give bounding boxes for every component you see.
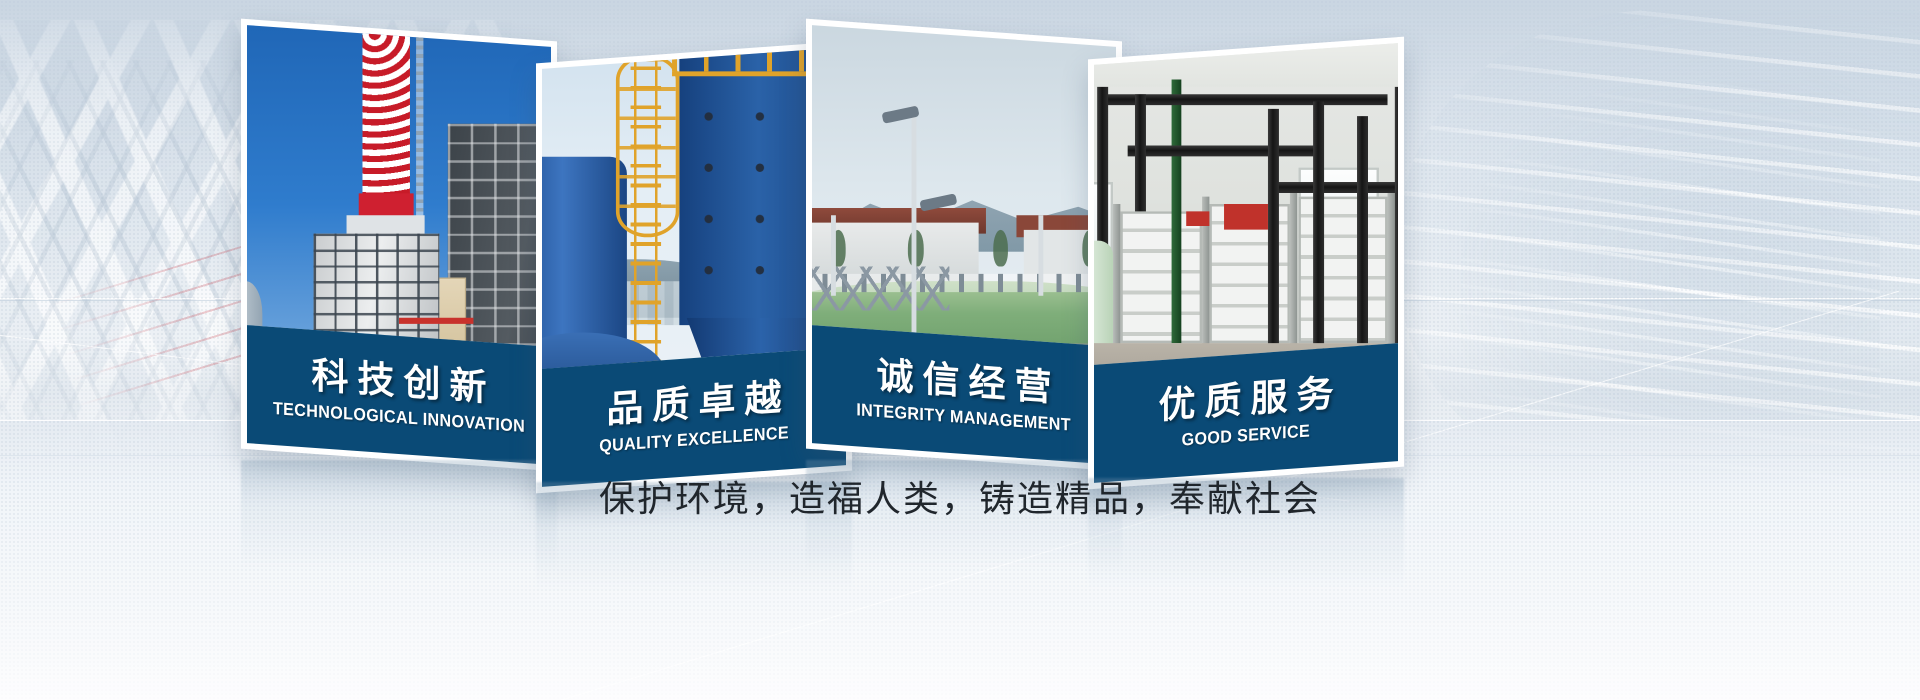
photo-ceiling [1094,43,1398,87]
photo-vertical-pipe [1313,102,1324,358]
panel-title-cn: 优质服务 [1150,373,1343,427]
photo-vertical-pipe [1357,116,1368,350]
feature-panel-quality-excellence[interactable]: 品质卓越 QUALITY EXCELLENCE [536,52,852,612]
panel-card: 诚信经营 INTEGRITY MANAGEMENT [806,19,1122,472]
panel-photo-scene [247,25,551,347]
photo-ro-module [1298,197,1387,343]
panel-title-cn: 品质卓越 [598,377,791,431]
panel-photo [247,25,551,347]
photo-frame-post [1387,189,1394,365]
photo-mast [416,25,423,237]
panel-title-cn: 科技创新 [303,355,496,409]
photo-lamp-post [912,105,917,346]
panel-caption-banner: 诚信经营 INTEGRITY MANAGEMENT [812,325,1116,465]
photo-warning-sign [1224,204,1268,230]
photo-vertical-pipe [1268,109,1279,351]
panel-photo [1094,43,1398,365]
photo-overhead-pipe [1105,94,1387,105]
panel-photo-scene [542,47,846,369]
panel-title-en: GOOD SERVICE [1182,420,1310,450]
photo-green-pipe [1172,80,1182,344]
photo-ro-module [1120,211,1202,343]
photo-overhead-pipe [1127,145,1320,156]
photo-lamp-post [1038,215,1043,296]
photo-warning-sign [1187,211,1209,226]
panel-card: 品质卓越 QUALITY EXCELLENCE [536,41,852,494]
tagline: 保护环境，造福人类，铸造精品，奉献社会 [0,470,1920,522]
photo-ladder [631,47,661,369]
panel-photo-scene [1094,43,1398,365]
panel-photo [812,25,1116,347]
feature-panel-good-service[interactable]: 优质服务 GOOD SERVICE [1088,48,1404,608]
photo-frame-post [1112,204,1119,365]
panel-photo [542,47,846,369]
photo-lamp-post [830,215,835,296]
panel-card: 科技创新 TECHNOLOGICAL INNOVATION [241,19,557,472]
hero-banner: 科技创新 TECHNOLOGICAL INNOVATION [0,0,1920,700]
photo-overhead-pipe [1276,182,1398,193]
panel-title-cn: 诚信经营 [868,355,1061,409]
panel-photo-scene [812,25,1116,347]
photo-tower-left [314,234,440,347]
photo-frame-post [1290,189,1297,365]
panel-caption-banner: 科技创新 TECHNOLOGICAL INNOVATION [247,325,551,465]
photo-vertical-pipe [1135,94,1146,211]
panel-card: 优质服务 GOOD SERVICE [1088,37,1404,490]
photo-chimney-stack [362,25,410,208]
panel-caption-banner: 品质卓越 QUALITY EXCELLENCE [542,347,846,487]
panel-caption-banner: 优质服务 GOOD SERVICE [1094,343,1398,483]
photo-vertical-pipe [1394,87,1398,351]
photo-red-line-1 [399,318,473,323]
